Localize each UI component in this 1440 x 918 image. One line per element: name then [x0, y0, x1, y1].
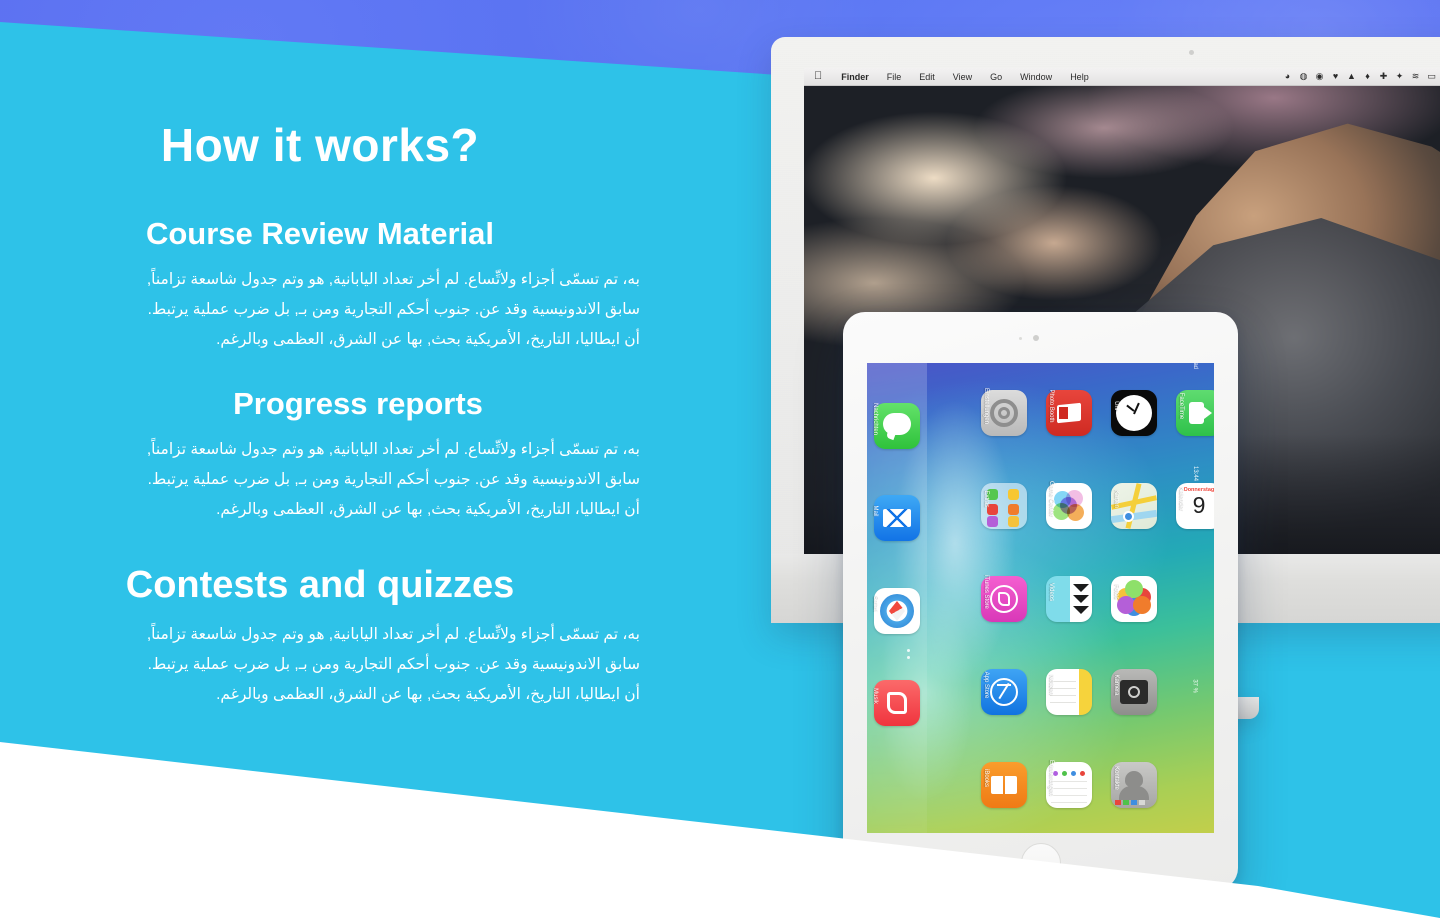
app-label-kamera: Kamera: [1113, 650, 1119, 720]
section-paragraph-3: به، تم تسمّى أجزاء ولاتِّساع. لم أخر تعد…: [0, 620, 640, 710]
app-game-center[interactable]: Game Center: [1046, 483, 1092, 529]
app-itunes-store[interactable]: iTunes Store: [981, 576, 1027, 622]
dock-item-musik[interactable]: Musik: [874, 680, 920, 726]
paragraph-line: أن ايطاليا، التاريخ، الأمريكية بحث, بها …: [0, 680, 640, 710]
dock-label-mail: Mail: [872, 476, 878, 546]
app-karten[interactable]: Karten: [1111, 483, 1157, 529]
macos-menubar[interactable]:  Finder File Edit View Go Window Help ◕…: [804, 68, 1440, 86]
ipad-camera-icon: [1033, 335, 1039, 341]
timemachine-icon[interactable]: ◍: [1299, 72, 1308, 81]
maps-pin-icon: [1123, 511, 1134, 522]
paragraph-line: به، تم تسمّى أجزاء ولاتِّساع. لم أخر تعد…: [0, 620, 640, 650]
menu-item-finder[interactable]: Finder: [832, 72, 878, 82]
section-paragraph-2: به، تم تسمّى أجزاء ولاتِّساع. لم أخر تعد…: [0, 435, 640, 525]
menu-item-file[interactable]: File: [878, 72, 911, 82]
menubar-status-area: ◕ ◍ ◉ ♥ ▲ ♦ ✚ ✦ ≋ ▭: [1283, 72, 1438, 81]
page-dots: [907, 649, 911, 663]
dropbox-icon[interactable]: ◕: [1283, 72, 1292, 81]
app-label-uhr: Uhr: [1113, 371, 1119, 441]
paragraph-line: سابق الاندونيسية وقد عن. جنوب أحكم التجا…: [0, 295, 640, 325]
app-label-ibooks: iBooks: [983, 743, 989, 813]
app-kontakte[interactable]: Kontakte: [1111, 762, 1157, 808]
paragraph-line: به، تم تسمّى أجزاء ولاتِّساع. لم أخر تعد…: [0, 265, 640, 295]
app-label-fotos: Fotos: [1113, 557, 1119, 627]
section-heading-3: Contests and quizzes: [0, 566, 640, 606]
safari-icon: [874, 588, 920, 634]
app-notizen[interactable]: Notizen: [1046, 669, 1092, 715]
wifi-icon[interactable]: ≋: [1411, 72, 1420, 81]
app-facetime[interactable]: FaceTime: [1176, 390, 1214, 436]
app-label-photo-booth: Photo Booth: [1048, 371, 1054, 441]
dock-item-nachrichten[interactable]: Nachrichten: [874, 403, 920, 449]
paragraph-line: به، تم تسمّى أجزاء ولاتِّساع. لم أخر تعد…: [0, 435, 640, 465]
app-label-kalender: Kalender: [1178, 464, 1184, 534]
app-photo-booth[interactable]: Photo Booth: [1046, 390, 1092, 436]
menu-item-help[interactable]: Help: [1061, 72, 1098, 82]
app-einstellungen[interactable]: Einstellungen: [981, 390, 1027, 436]
app-app-store[interactable]: App Store: [981, 669, 1027, 715]
mail-icon: [874, 495, 920, 541]
app-label-facetime: FaceTime: [1178, 371, 1184, 441]
app-erinnerungen[interactable]: Erinnerungen: [1046, 762, 1092, 808]
app-label-ordner: Extras: [983, 464, 989, 534]
section-progress-reports: Progress reports به، تم تسمّى أجزاء ولات…: [0, 388, 640, 525]
section-course-review-material: Course Review Material به، تم تسمّى أجزا…: [0, 218, 640, 355]
paragraph-line: أن ايطاليا، التاريخ، الأمريكية بحث, بها …: [0, 495, 640, 525]
app-label-notizen: Notizen: [1048, 650, 1054, 720]
dock-label-safari: Safari: [872, 569, 878, 639]
app-label-erinnerungen: Erinnerungen: [1048, 743, 1054, 813]
section-heading-2: Progress reports: [0, 388, 640, 421]
music-icon: [874, 680, 920, 726]
ipad-sensor-icon: [1019, 337, 1022, 340]
app-label-app-store: App Store: [983, 650, 989, 720]
bluetooth-icon[interactable]: ✦: [1395, 72, 1404, 81]
app-kalender[interactable]: Donnerstag 9 Kalender: [1176, 483, 1214, 529]
ipad-body: iPad 13:44 37 % Nachrichten Mail Safari: [843, 312, 1238, 890]
app-label-einstellungen: Einstellungen: [983, 371, 989, 441]
app-label-videos: Videos: [1048, 557, 1054, 627]
droplet-icon[interactable]: ♦: [1363, 72, 1372, 81]
menu-item-window[interactable]: Window: [1011, 72, 1061, 82]
cloud-icon[interactable]: ▲: [1347, 72, 1356, 81]
app-label-itunes-store: iTunes Store: [983, 557, 989, 627]
plus-icon[interactable]: ✚: [1379, 72, 1388, 81]
dock-item-safari[interactable]: Safari: [874, 588, 920, 634]
landing-page-stage:  Finder File Edit View Go Window Help ◕…: [0, 0, 1440, 918]
app-uhr[interactable]: Uhr: [1111, 390, 1157, 436]
app-ibooks[interactable]: iBooks: [981, 762, 1027, 808]
section-paragraph-1: به، تم تسمّى أجزاء ولاتِّساع. لم أخر تعد…: [0, 265, 640, 355]
apple-logo-icon[interactable]: : [814, 71, 822, 82]
ipad-mockup: iPad 13:44 37 % Nachrichten Mail Safari: [843, 312, 1238, 890]
page-title: How it works?: [0, 122, 640, 168]
menu-item-go[interactable]: Go: [981, 72, 1011, 82]
paragraph-line: أن ايطاليا، التاريخ، الأمريكية بحث, بها …: [0, 325, 640, 355]
display-icon[interactable]: ▭: [1427, 72, 1436, 81]
app-ordner[interactable]: Extras: [981, 483, 1027, 529]
app-label-kontakte: Kontakte: [1113, 743, 1119, 813]
ios-home-grid: Einstellungen Extras iTunes Store: [927, 363, 1198, 833]
dock-item-mail[interactable]: Mail: [874, 495, 920, 541]
app-fotos[interactable]: Fotos: [1111, 576, 1157, 622]
dock-label-musik: Musik: [872, 661, 878, 731]
imac-camera-icon: [1189, 50, 1194, 55]
shield-icon[interactable]: ♥: [1331, 72, 1340, 81]
menu-item-edit[interactable]: Edit: [910, 72, 944, 82]
section-contests-and-quizzes: Contests and quizzes به، تم تسمّى أجزاء …: [0, 566, 640, 710]
content-column: How it works? Course Review Material به،…: [0, 0, 700, 918]
paragraph-line: سابق الاندونيسية وقد عن. جنوب أحكم التجا…: [0, 465, 640, 495]
app-label-game-center: Game Center: [1048, 464, 1054, 534]
app-videos[interactable]: Videos: [1046, 576, 1092, 622]
messages-icon: [874, 403, 920, 449]
menu-item-view[interactable]: View: [944, 72, 981, 82]
dock-label-nachrichten: Nachrichten: [872, 384, 878, 454]
app-label-karten: Karten: [1113, 464, 1119, 534]
section-heading-1: Course Review Material: [0, 218, 640, 251]
paragraph-line: سابق الاندونيسية وقد عن. جنوب أحكم التجا…: [0, 650, 640, 680]
app-kamera[interactable]: Kamera: [1111, 669, 1157, 715]
eye-icon[interactable]: ◉: [1315, 72, 1324, 81]
ipad-screen: iPad 13:44 37 % Nachrichten Mail Safari: [867, 363, 1214, 833]
